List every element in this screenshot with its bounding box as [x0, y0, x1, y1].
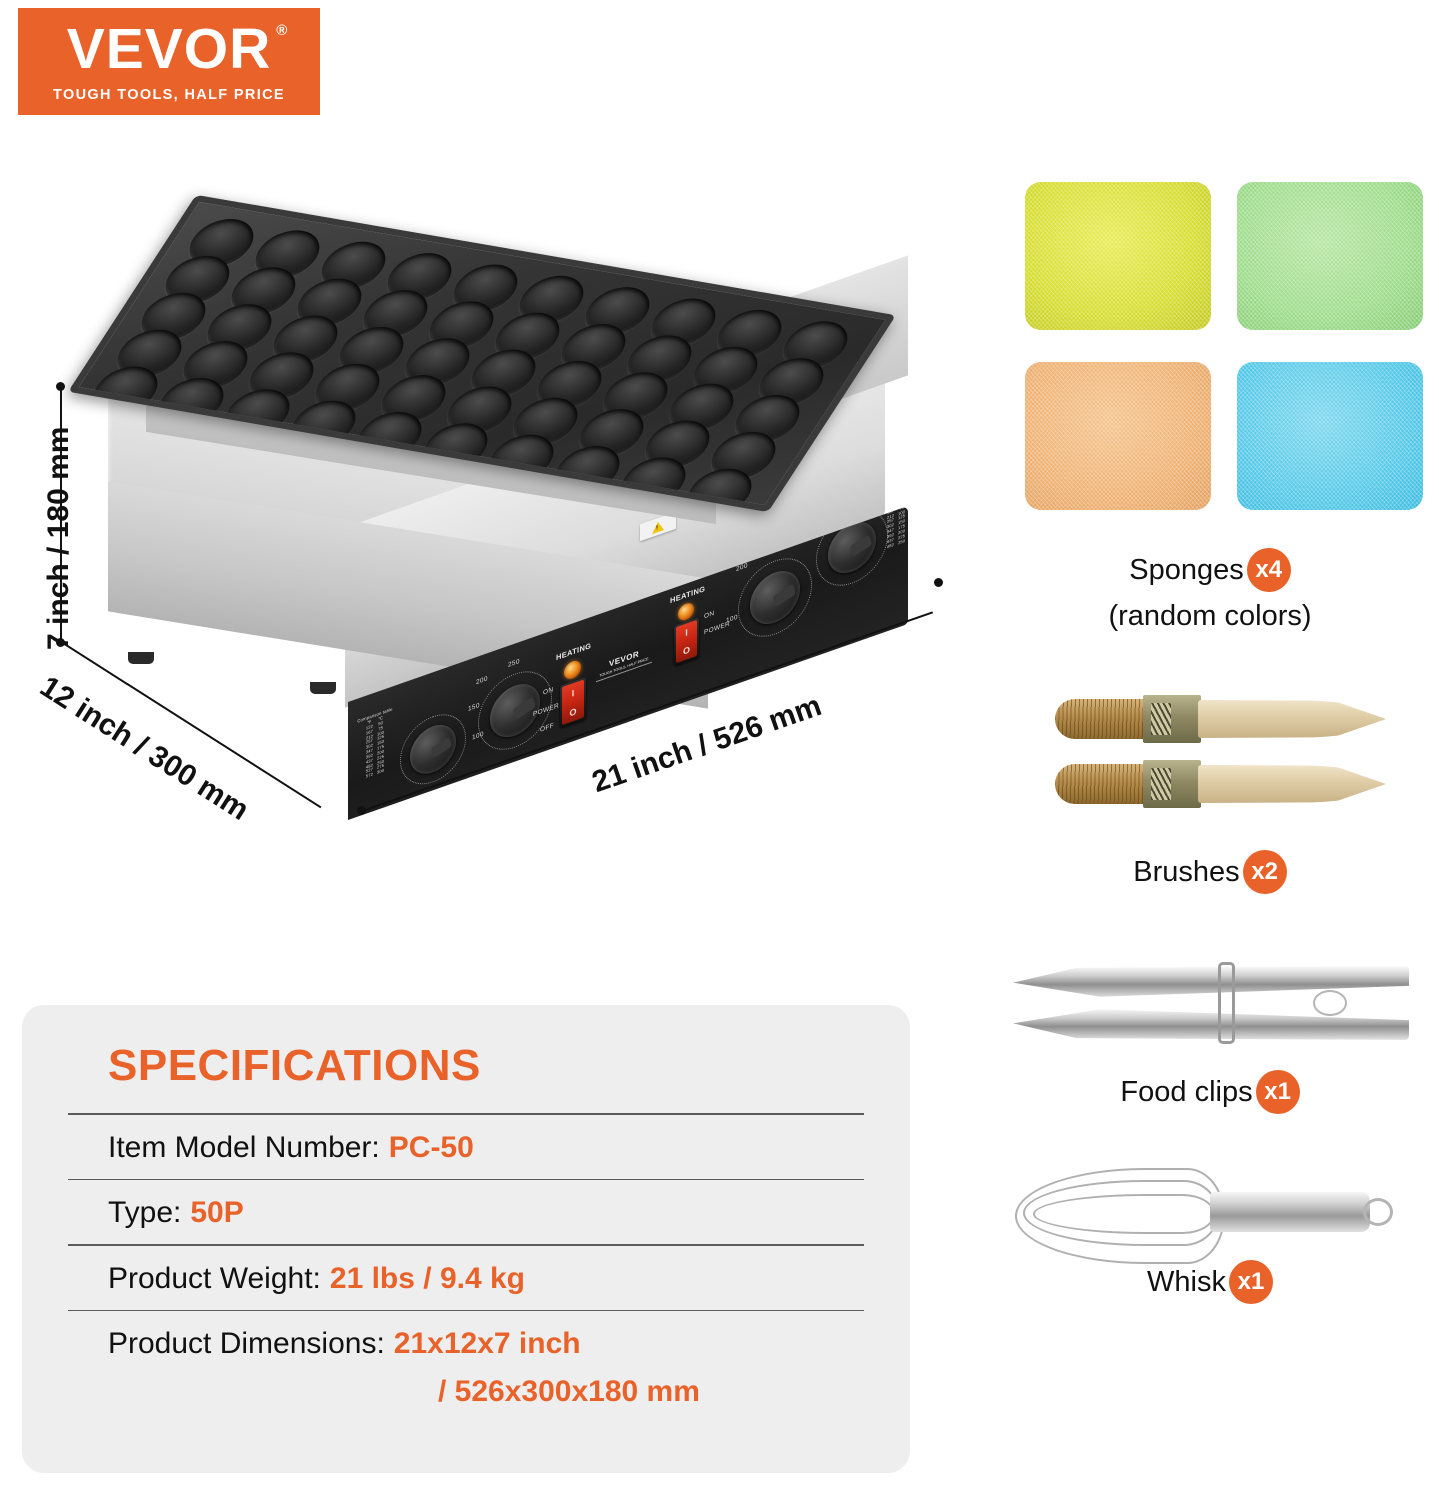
brush-handle: [1198, 700, 1386, 738]
scale-250: 250: [508, 658, 520, 669]
tong-arm-lower: [1013, 1008, 1409, 1040]
sponges-note: (random colors): [985, 600, 1435, 633]
sponge-green: [1237, 182, 1423, 330]
whisk-hanging-loop: [1363, 1198, 1393, 1226]
switch-on-label-right: ON: [704, 610, 714, 621]
brush-ferrule: [1143, 760, 1201, 808]
whisk-qty-badge: x1: [1229, 1260, 1273, 1304]
spec-value-model: PC-50: [389, 1131, 474, 1165]
comparison-table-left: Comparison table ℉ 122 167 212 257 302 3…: [354, 705, 396, 784]
scale-150: 150: [468, 702, 480, 713]
brand-name-text: VEVOR: [67, 17, 272, 81]
food-clips: [1013, 960, 1409, 1046]
tong-arm-upper: [1013, 966, 1409, 998]
whisk-caption: Whisk x1: [985, 1260, 1435, 1304]
heating-indicator-lamp-left: [564, 658, 581, 681]
tong-hole: [1313, 990, 1347, 1016]
brush-2: [1055, 760, 1385, 808]
cooking-plate: [118, 230, 908, 520]
power-switch-right[interactable]: I O: [674, 617, 699, 666]
comparison-col-c: ℃ 50 75 100 125 150 175 200 225 250 275: [377, 715, 384, 775]
warning-triangle-icon: [652, 519, 664, 533]
food-clips-caption: Food clips x1: [985, 1070, 1435, 1114]
whisk-label: Whisk: [1147, 1266, 1226, 1299]
sponge-blue: [1237, 362, 1423, 510]
tong-lock-ring: [1218, 962, 1235, 1044]
power-switch-left[interactable]: I O: [560, 677, 586, 728]
brushes-label: Brushes: [1133, 856, 1239, 889]
brand-name: VEVOR ®: [67, 21, 272, 78]
spec-value-dimensions-mm: / 526x300x180 mm: [438, 1375, 700, 1409]
product-info-page: VEVOR ® TOUGH TOOLS, HALF PRICE Comparis…: [0, 0, 1439, 1499]
dim-dot-width-end: [934, 578, 943, 587]
sponges-qty-badge: x4: [1247, 548, 1291, 592]
spec-label-weight: Product Weight:: [108, 1262, 321, 1296]
food-clips-label: Food clips: [1120, 1076, 1252, 1109]
comparison-col-f: ℉ 122 167 212 257 302 347 392 437 482 52: [366, 719, 373, 779]
cavity-grid: [79, 202, 885, 505]
whisk-handle: [1210, 1192, 1370, 1232]
machine-foot: [310, 682, 336, 694]
brushes-qty-badge: x2: [1243, 850, 1287, 894]
rocker-off-mark: O: [569, 706, 576, 718]
brush-handle: [1198, 765, 1386, 803]
whisk: [1015, 1162, 1411, 1270]
scale-100-right: 100: [726, 614, 738, 625]
spec-row-weight: Product Weight: 21 lbs / 9.4 kg: [68, 1246, 864, 1310]
brush-1: [1055, 695, 1385, 743]
accessories-column: Sponges x4 (random colors) Brushes x2: [985, 150, 1435, 1480]
brushes-caption: Brushes x2: [985, 850, 1435, 894]
brush-bristles-icon: [1055, 764, 1150, 804]
product-photo: Comparison table ℉ 122 167 212 257 302 3…: [0, 200, 980, 860]
spec-label-dimensions: Product Dimensions:: [108, 1327, 385, 1361]
machine-foot: [128, 652, 154, 664]
brush-bristles-icon: [1055, 699, 1150, 739]
specifications-panel: SPECIFICATIONS Item Model Number: PC-50 …: [22, 1005, 910, 1473]
heating-label-left: HEATING: [556, 641, 591, 662]
dimension-height-label: 7 inch / 180 mm: [42, 427, 76, 650]
spec-value-dimensions-inch: 21x12x7 inch: [394, 1327, 581, 1361]
brush-ferrule: [1143, 695, 1201, 743]
scale-200: 200: [476, 675, 488, 686]
vevor-logo: VEVOR ® TOUGH TOOLS, HALF PRICE: [18, 8, 320, 115]
sponge-yellow: [1025, 182, 1211, 330]
control-panel-brand-plate: VEVOR TOUGH TOOLS, HALF PRICE: [596, 644, 652, 682]
sponge-orange: [1025, 362, 1211, 510]
sponges-caption: Sponges x4: [985, 548, 1435, 592]
rocker-on-mark: I: [572, 687, 575, 698]
food-clips-qty-badge: x1: [1256, 1070, 1300, 1114]
spec-label-type: Type:: [108, 1196, 181, 1230]
rocker-on-mark: I: [685, 627, 688, 638]
sponges-label: Sponges: [1129, 554, 1244, 587]
spec-label-model: Item Model Number:: [108, 1131, 380, 1165]
brand-tagline: TOUGH TOOLS, HALF PRICE: [53, 87, 285, 103]
spec-row-type: Type: 50P: [68, 1180, 864, 1244]
registered-trademark-icon: ®: [276, 23, 288, 38]
specifications-title: SPECIFICATIONS: [108, 1041, 481, 1091]
spec-value-type: 50P: [190, 1196, 243, 1230]
specifications-rows: Item Model Number: PC-50 Type: 50P Produ…: [68, 1113, 864, 1423]
rocker-off-mark: O: [683, 644, 690, 656]
spec-row-dimensions: Product Dimensions: 21x12x7 inch / 526x3…: [68, 1311, 864, 1423]
spec-value-weight: 21 lbs / 9.4 kg: [330, 1262, 525, 1296]
spec-row-model: Item Model Number: PC-50: [68, 1115, 864, 1179]
